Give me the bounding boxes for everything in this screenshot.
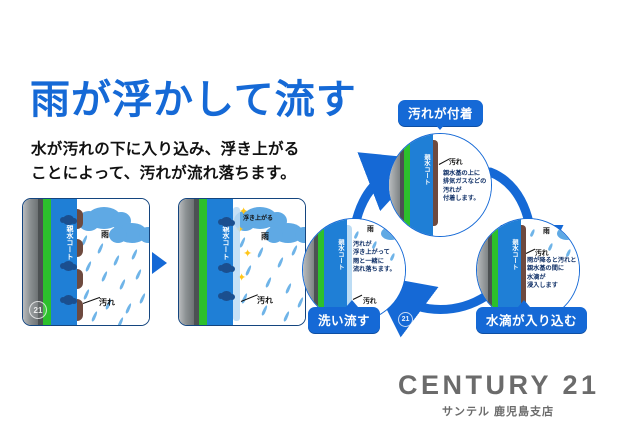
raindrop-icon [113, 255, 121, 266]
rain-label: 雨 [101, 229, 109, 240]
cycle-badge-penetrate[interactable]: 水滴が入り込む [476, 307, 587, 333]
coating-band [333, 219, 347, 321]
raindrop-icon [83, 289, 91, 300]
dirt-particle-icon [63, 295, 74, 305]
watermark-21: 21 [398, 312, 413, 327]
wall-cross-section [179, 199, 217, 325]
grime-wave [77, 299, 83, 321]
slide-root: 雨が浮かして流す 水が汚れの下に入り込み、浮き上がる ことによって、汚れが流れ落… [0, 0, 620, 429]
logo-wordmark: CENTURY 21 [398, 370, 598, 400]
raindrop-icon [354, 231, 360, 240]
raindrop-icon [117, 317, 125, 325]
logo-branch-name: サンテル 鹿児島支店 [398, 403, 598, 419]
dirt-particle-icon [63, 261, 74, 271]
wall-layer-green [199, 199, 207, 325]
wall-layer-substrate [303, 219, 314, 321]
dirt-label: 汚れ [449, 156, 463, 166]
sparkle-icon: ✦ [243, 249, 252, 260]
coating-label: 親水コート [333, 239, 347, 270]
coating-label: 親水コート [61, 225, 77, 260]
grime-wave [77, 269, 83, 289]
coating-label: 親水コート [217, 225, 233, 260]
raindrop-icon [85, 261, 93, 272]
cloud-icon [87, 207, 121, 229]
grime-wave [77, 209, 83, 229]
raindrop-icon [131, 249, 139, 260]
illustration-panel-before: 親水コート 雨 汚れ 21 [22, 198, 150, 326]
raindrop-icon [139, 293, 147, 304]
wall-layer-substrate [179, 199, 194, 325]
rain-label: 雨 [367, 223, 374, 233]
wall-cross-section [477, 219, 507, 321]
raindrop-icon [257, 247, 265, 258]
wall-cross-section [303, 219, 333, 321]
float-label: 浮き上がる [243, 213, 273, 222]
rain-label: 雨 [261, 231, 269, 242]
raindrop-icon [530, 229, 536, 238]
dirt-particle-icon [221, 291, 232, 301]
brand-logo: CENTURY 21 サンテル 鹿児島支店 [398, 370, 598, 419]
step-caption: 汚れが 浮き上がって 雨と一緒に 流れ落ちます。 [353, 241, 396, 275]
rain-area: 雨 汚れ [77, 199, 149, 325]
badge-pointer [434, 123, 446, 130]
raindrop-icon [261, 305, 269, 316]
watermark-21: 21 [29, 301, 47, 319]
raindrop-icon [135, 269, 143, 280]
wall-layer-blue [324, 219, 333, 321]
raindrop-icon [125, 303, 133, 314]
cycle-badge-washaway[interactable]: 洗い流す [308, 307, 380, 333]
raindrop-icon [101, 271, 109, 282]
dirt-particle-icon [221, 263, 232, 273]
raindrop-icon [239, 237, 247, 248]
page-subcopy: 水が汚れの下に入り込み、浮き上がる ことによって、汚れが流れ落ちます。 [31, 138, 300, 186]
wall-layer-blue [410, 134, 419, 236]
dirt-label: 汚れ [257, 295, 273, 306]
dirt-particle-icon [63, 215, 74, 225]
rain-label: 雨 [543, 225, 550, 235]
dirt-label: 汚れ [535, 247, 549, 257]
leader-line [526, 249, 535, 254]
coating-band [419, 134, 433, 236]
cloud-icon [117, 223, 147, 243]
raindrop-icon [265, 277, 273, 288]
wall-layer-blue [207, 199, 217, 325]
badge-pointer [518, 300, 530, 307]
step-caption: 親水基の上に 排気ガスなどの 汚れが 付着します。 [443, 170, 486, 204]
coating-label: 親水コート [419, 154, 433, 185]
illustration-panel-after: 親水コート ✦ ✦ ✦ 雨 汚れ ✦ 浮き上がる [178, 198, 306, 326]
raindrop-icon [119, 279, 127, 290]
arrow-right-to-left [398, 296, 486, 310]
dirt-label: 汚れ [99, 297, 115, 308]
cloud-icon [557, 227, 577, 240]
coating-label: 親水コート [507, 239, 521, 270]
raindrop-icon [277, 257, 285, 268]
dirt-label: 汚れ [363, 295, 377, 305]
cloud-icon [381, 227, 401, 240]
step-arrow-icon [152, 252, 167, 274]
cycle-diagram: 親水コート 汚れ 親水基の上に 排気ガスなどの 汚れが 付着します。 汚れが付着… [290, 100, 610, 350]
wall-layer-substrate [477, 219, 488, 321]
grime-layer [433, 140, 438, 226]
raindrop-icon [97, 243, 105, 254]
dirt-particle-icon [221, 217, 232, 227]
wall-layer-blue [498, 219, 507, 321]
step-caption: 雨が降ると汚れと 親水基の間に 水滴が 浸入します [527, 257, 577, 291]
raindrop-icon [91, 311, 99, 322]
badge-pointer [346, 300, 358, 307]
